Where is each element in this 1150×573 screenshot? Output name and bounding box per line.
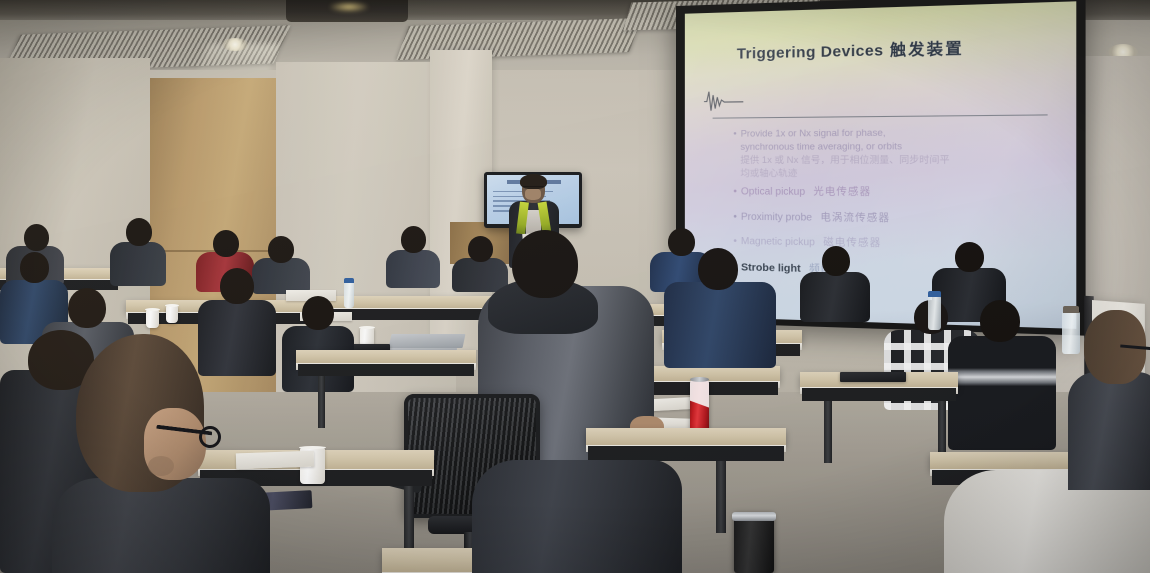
recessed-downlight-icon <box>222 38 248 51</box>
attendee <box>472 460 682 573</box>
attendee-head <box>822 246 850 276</box>
laptop <box>389 334 466 348</box>
slide-title: Triggering Devices触发装置 <box>737 37 964 64</box>
bullet-1-chinese: 光电传感器 <box>813 187 871 199</box>
attendee <box>386 226 440 288</box>
notebook <box>840 372 906 382</box>
attendee-head <box>698 248 738 290</box>
attendee-head <box>302 296 334 330</box>
glasses-icon <box>523 186 544 191</box>
paper-cup <box>146 310 159 328</box>
attendee-torso <box>948 336 1056 450</box>
thermos-flask <box>734 512 774 573</box>
slide-title-english: Triggering Devices <box>737 42 884 63</box>
bullet-main-line4: 均或轴心轨迹 <box>740 168 949 182</box>
desk <box>586 428 786 446</box>
desk-apron <box>588 446 784 461</box>
bullet-dot-icon: • <box>733 236 737 247</box>
attendee-head <box>220 268 254 304</box>
attendee-head <box>126 218 152 246</box>
attendee-navy-hoodie <box>664 248 776 368</box>
attendee-ear <box>148 456 174 476</box>
bullet-main-line3: 提供 1x 或 Nx 信号，用于相位测量、同步时间平 <box>740 154 949 168</box>
can-lid <box>690 377 709 382</box>
bullet-dot-icon: • <box>733 186 737 197</box>
attendee-head <box>512 230 578 298</box>
slide-title-underline <box>713 114 1048 119</box>
bullet-2-chinese: 电涡流传感器 <box>820 213 890 225</box>
bottle-cap <box>928 291 941 297</box>
bullet-2-english: Proximity probe <box>741 212 812 224</box>
projector-lamp-glow <box>330 2 368 12</box>
desk <box>296 350 476 364</box>
desk-apron <box>802 388 956 401</box>
attendee-torso <box>664 282 776 368</box>
attendee-head <box>955 242 984 272</box>
water-bottle <box>928 296 941 330</box>
waveform-icon <box>703 84 745 119</box>
desk-apron <box>298 364 474 376</box>
bullet-1-english: Optical pickup <box>741 186 805 198</box>
attendee-head <box>980 300 1020 342</box>
slide-bullet-optical-pickup: •Optical pickup光电传感器 <box>733 185 871 200</box>
attendee-head <box>213 230 239 257</box>
attendee-torso <box>800 272 870 322</box>
attendee-head <box>401 226 426 253</box>
attendee <box>800 246 870 322</box>
bottle-cap <box>344 278 354 283</box>
desk-leg <box>716 461 726 533</box>
attendee-head <box>24 224 49 251</box>
desk-leg <box>318 376 325 428</box>
attendee-torso <box>52 478 270 573</box>
attendee <box>1068 310 1150 490</box>
attendee-torso <box>472 460 682 573</box>
slide-title-chinese: 触发装置 <box>890 40 964 60</box>
attendee-foreground-glasses <box>52 330 270 573</box>
desk-leg <box>938 401 946 459</box>
attendee-head <box>68 288 106 328</box>
thermos-lid <box>732 512 776 521</box>
desk-leg <box>824 401 832 463</box>
attendee-head <box>20 252 49 283</box>
bullet-dot-icon: • <box>733 212 737 223</box>
attendee-striped-jacket <box>948 300 1056 450</box>
attendee-head <box>268 236 294 263</box>
training-room-photograph: Triggering Devices触发装置 •Provide 1x or Nx… <box>0 0 1150 573</box>
attendee-torso <box>386 250 440 288</box>
bullet-dot-icon: • <box>733 128 736 138</box>
paper-cup <box>166 306 178 323</box>
attendee <box>110 218 166 286</box>
slide-bullet-main: •Provide 1x or Nx signal for phase, sync… <box>733 126 949 182</box>
bullet-main-line1: Provide 1x or Nx signal for phase, <box>741 127 886 138</box>
attendee-torso <box>110 242 166 286</box>
bullet-main-line2: synchronous time averaging, or orbits <box>740 140 949 154</box>
attendee-torso <box>1068 372 1150 490</box>
slide-bullet-proximity-probe: •Proximity probe电涡流传感器 <box>733 211 890 227</box>
